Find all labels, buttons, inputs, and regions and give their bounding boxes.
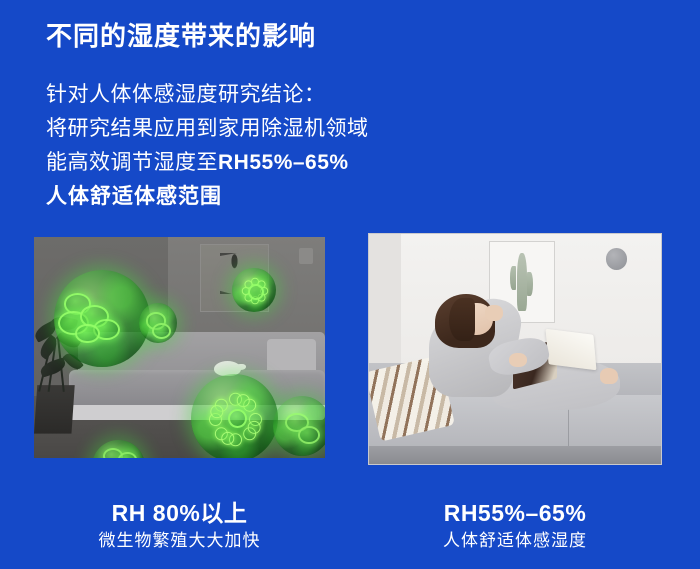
body-line-4: 人体舒适体感范围 xyxy=(46,180,466,214)
body-line-2: 将研究结果应用到家用除湿机领域 xyxy=(46,112,466,146)
microbe-spike xyxy=(248,420,261,433)
microbe-sphere-large xyxy=(54,270,150,367)
caption-subtitle: 微生物繁殖大大加快 xyxy=(34,528,325,554)
body-paragraph: 针对人体体感湿度研究结论： 将研究结果应用到家用除湿机领域 能高效调节湿度至RH… xyxy=(46,78,466,214)
page-title: 不同的湿度带来的影响 xyxy=(46,18,316,54)
caption-subtitle: 人体舒适体感湿度 xyxy=(368,528,662,554)
microbe-cell xyxy=(152,323,171,339)
caption-high-humidity: RH 80%以上 微生物繁殖大大加快 xyxy=(34,498,325,554)
caption-title: RH 80%以上 xyxy=(34,498,325,528)
woman-figure xyxy=(422,294,621,423)
sofa-base xyxy=(369,446,661,464)
microbe-cell xyxy=(118,452,137,458)
hand-holding-book xyxy=(509,353,527,367)
photo-comfort-humidity xyxy=(368,233,662,465)
hand-at-forehead xyxy=(485,305,503,320)
caption-title: RH55%–65% xyxy=(368,498,662,528)
dim-living-room-scene xyxy=(34,237,325,458)
caption-comfort-humidity: RH55%–65% 人体舒适体感湿度 xyxy=(368,498,662,554)
microbe-sphere-small xyxy=(139,303,177,343)
humidity-range-emphasis: RH55%–65% xyxy=(218,151,349,174)
microbe-cell xyxy=(298,426,319,444)
wall-switch xyxy=(299,248,314,263)
microbe-core xyxy=(228,409,247,428)
microbe-core xyxy=(248,284,264,300)
body-line-3-prefix: 能高效调节湿度至 xyxy=(46,151,218,174)
promo-page: 不同的湿度带来的影响 针对人体体感湿度研究结论： 将研究结果应用到家用除湿机领域… xyxy=(0,0,700,569)
photo-high-humidity xyxy=(34,237,325,458)
wall-speaker xyxy=(606,248,628,270)
plant-pot xyxy=(34,385,75,434)
book-right-page xyxy=(545,329,595,370)
microbe-sphere-hanging xyxy=(232,268,276,312)
microbe-sphere-bottom xyxy=(191,374,278,458)
foot xyxy=(600,368,618,383)
body-line-1: 针对人体体感湿度研究结论： xyxy=(46,78,466,112)
hair-front-strand xyxy=(449,298,475,342)
body-line-3: 能高效调节湿度至RH55%–65% xyxy=(46,146,466,180)
bright-living-room-scene xyxy=(369,234,661,464)
microbe-cell xyxy=(75,324,99,344)
microbe-sphere-edge xyxy=(273,396,325,456)
